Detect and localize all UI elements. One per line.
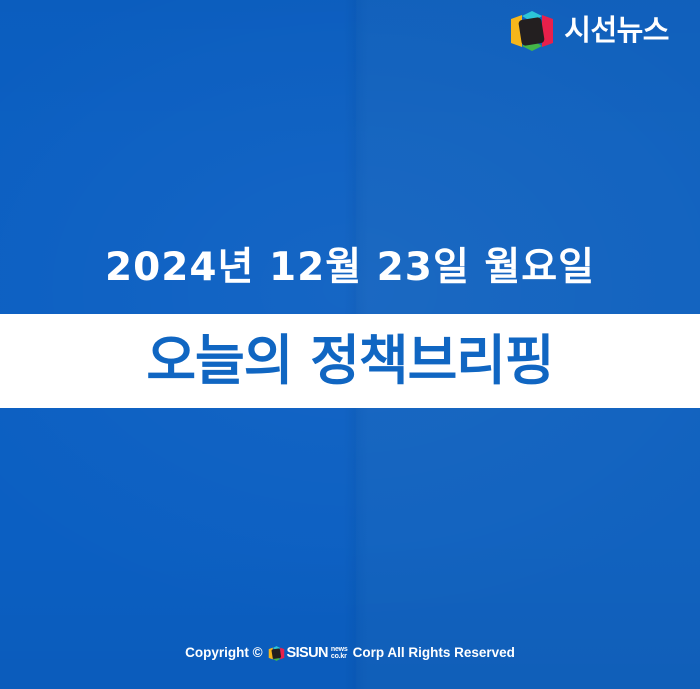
copyright-suffix: Corp All Rights Reserved: [353, 646, 515, 660]
footer-copyright: Copyright © SISUN news co.kr Corp All Ri…: [0, 643, 700, 663]
sisun-news-logo-icon: [509, 11, 555, 51]
headline-title: 오늘의 정책브리핑: [146, 334, 553, 388]
mini-brand-line1: news: [331, 646, 348, 654]
copyright-prefix: Copyright ©: [185, 646, 262, 660]
mini-brand-domain: news co.kr: [331, 646, 348, 661]
date-label: 2024년 12월 23일 월요일: [0, 247, 700, 289]
sisun-mini-logo-icon: [268, 646, 285, 661]
brand-logo[interactable]: 시선뉴스: [509, 11, 669, 51]
mini-brand-line2: co.kr: [331, 653, 348, 661]
brand-name: 시선뉴스: [564, 17, 669, 46]
footer-mini-logo: SISUN news co.kr: [268, 646, 348, 661]
mini-brand-name: SISUN: [287, 646, 328, 661]
headline-band: 오늘의 정책브리핑: [0, 314, 700, 408]
news-card: 시선뉴스 2024년 12월 23일 월요일 오늘의 정책브리핑 Copyrig…: [0, 0, 700, 689]
